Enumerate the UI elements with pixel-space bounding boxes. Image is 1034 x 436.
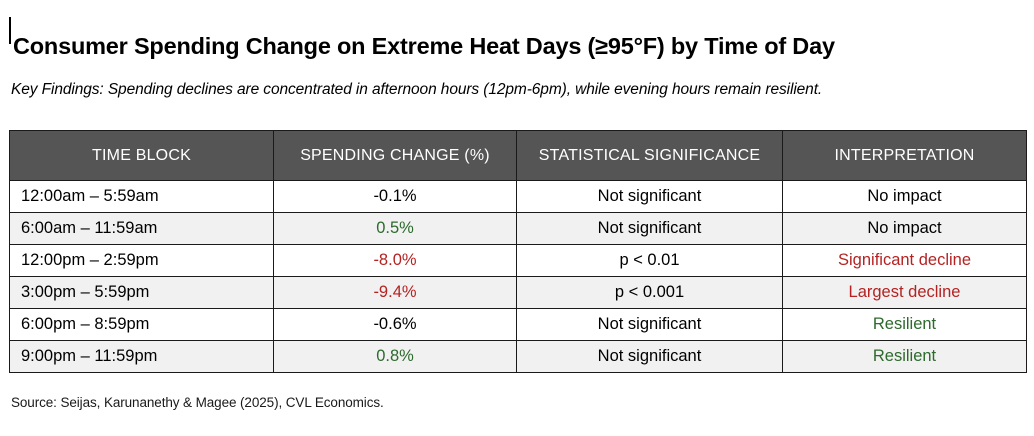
title-row: Consumer Spending Change on Extreme Heat… [9,16,835,75]
column-header-time-block: TIME BLOCK [10,131,274,181]
cell-interpretation: Largest decline [783,277,1027,309]
cell-spending-change: -9.4% [274,277,517,309]
spending-change-table: TIME BLOCK SPENDING CHANGE (%) STATISTIC… [9,130,1027,373]
cell-spending-change: -0.1% [274,181,517,213]
cell-time-block: 9:00pm – 11:59pm [10,341,274,373]
cell-interpretation: No impact [783,181,1027,213]
cell-spending-change: -8.0% [274,245,517,277]
cell-interpretation: Significant decline [783,245,1027,277]
cell-spending-change: 0.8% [274,341,517,373]
cell-significance: Not significant [517,181,783,213]
table-row: 12:00pm – 2:59pm -8.0% p < 0.01 Signific… [10,245,1027,277]
column-header-interpretation: INTERPRETATION [783,131,1027,181]
table-row: 12:00am – 5:59am -0.1% Not significant N… [10,181,1027,213]
cell-time-block: 6:00pm – 8:59pm [10,309,274,341]
cell-significance: Not significant [517,213,783,245]
table-header: TIME BLOCK SPENDING CHANGE (%) STATISTIC… [10,131,1027,181]
cell-time-block: 6:00am – 11:59am [10,213,274,245]
cell-significance: p < 0.01 [517,245,783,277]
cell-time-block: 12:00pm – 2:59pm [10,245,274,277]
cell-time-block: 3:00pm – 5:59pm [10,277,274,309]
cell-spending-change: 0.5% [274,213,517,245]
table-row: 6:00pm – 8:59pm -0.6% Not significant Re… [10,309,1027,341]
table-row: 6:00am – 11:59am 0.5% Not significant No… [10,213,1027,245]
source-note: Source: Seijas, Karunanethy & Magee (202… [11,395,384,410]
text-cursor-icon [9,17,11,44]
page-title: Consumer Spending Change on Extreme Heat… [13,32,835,60]
cell-significance: Not significant [517,341,783,373]
table-header-row: TIME BLOCK SPENDING CHANGE (%) STATISTIC… [10,131,1027,181]
data-table-container: TIME BLOCK SPENDING CHANGE (%) STATISTIC… [9,130,1026,373]
figure-container: Consumer Spending Change on Extreme Heat… [0,0,1034,436]
cell-interpretation: No impact [783,213,1027,245]
cell-significance: Not significant [517,309,783,341]
column-header-statistical-significance: STATISTICAL SIGNIFICANCE [517,131,783,181]
cell-time-block: 12:00am – 5:59am [10,181,274,213]
column-header-spending-change: SPENDING CHANGE (%) [274,131,517,181]
table-row: 9:00pm – 11:59pm 0.8% Not significant Re… [10,341,1027,373]
cell-interpretation: Resilient [783,309,1027,341]
cell-spending-change: -0.6% [274,309,517,341]
key-findings-subtitle: Key Findings: Spending declines are conc… [11,79,986,100]
cell-significance: p < 0.001 [517,277,783,309]
table-row: 3:00pm – 5:59pm -9.4% p < 0.001 Largest … [10,277,1027,309]
table-body: 12:00am – 5:59am -0.1% Not significant N… [10,181,1027,373]
cell-interpretation: Resilient [783,341,1027,373]
